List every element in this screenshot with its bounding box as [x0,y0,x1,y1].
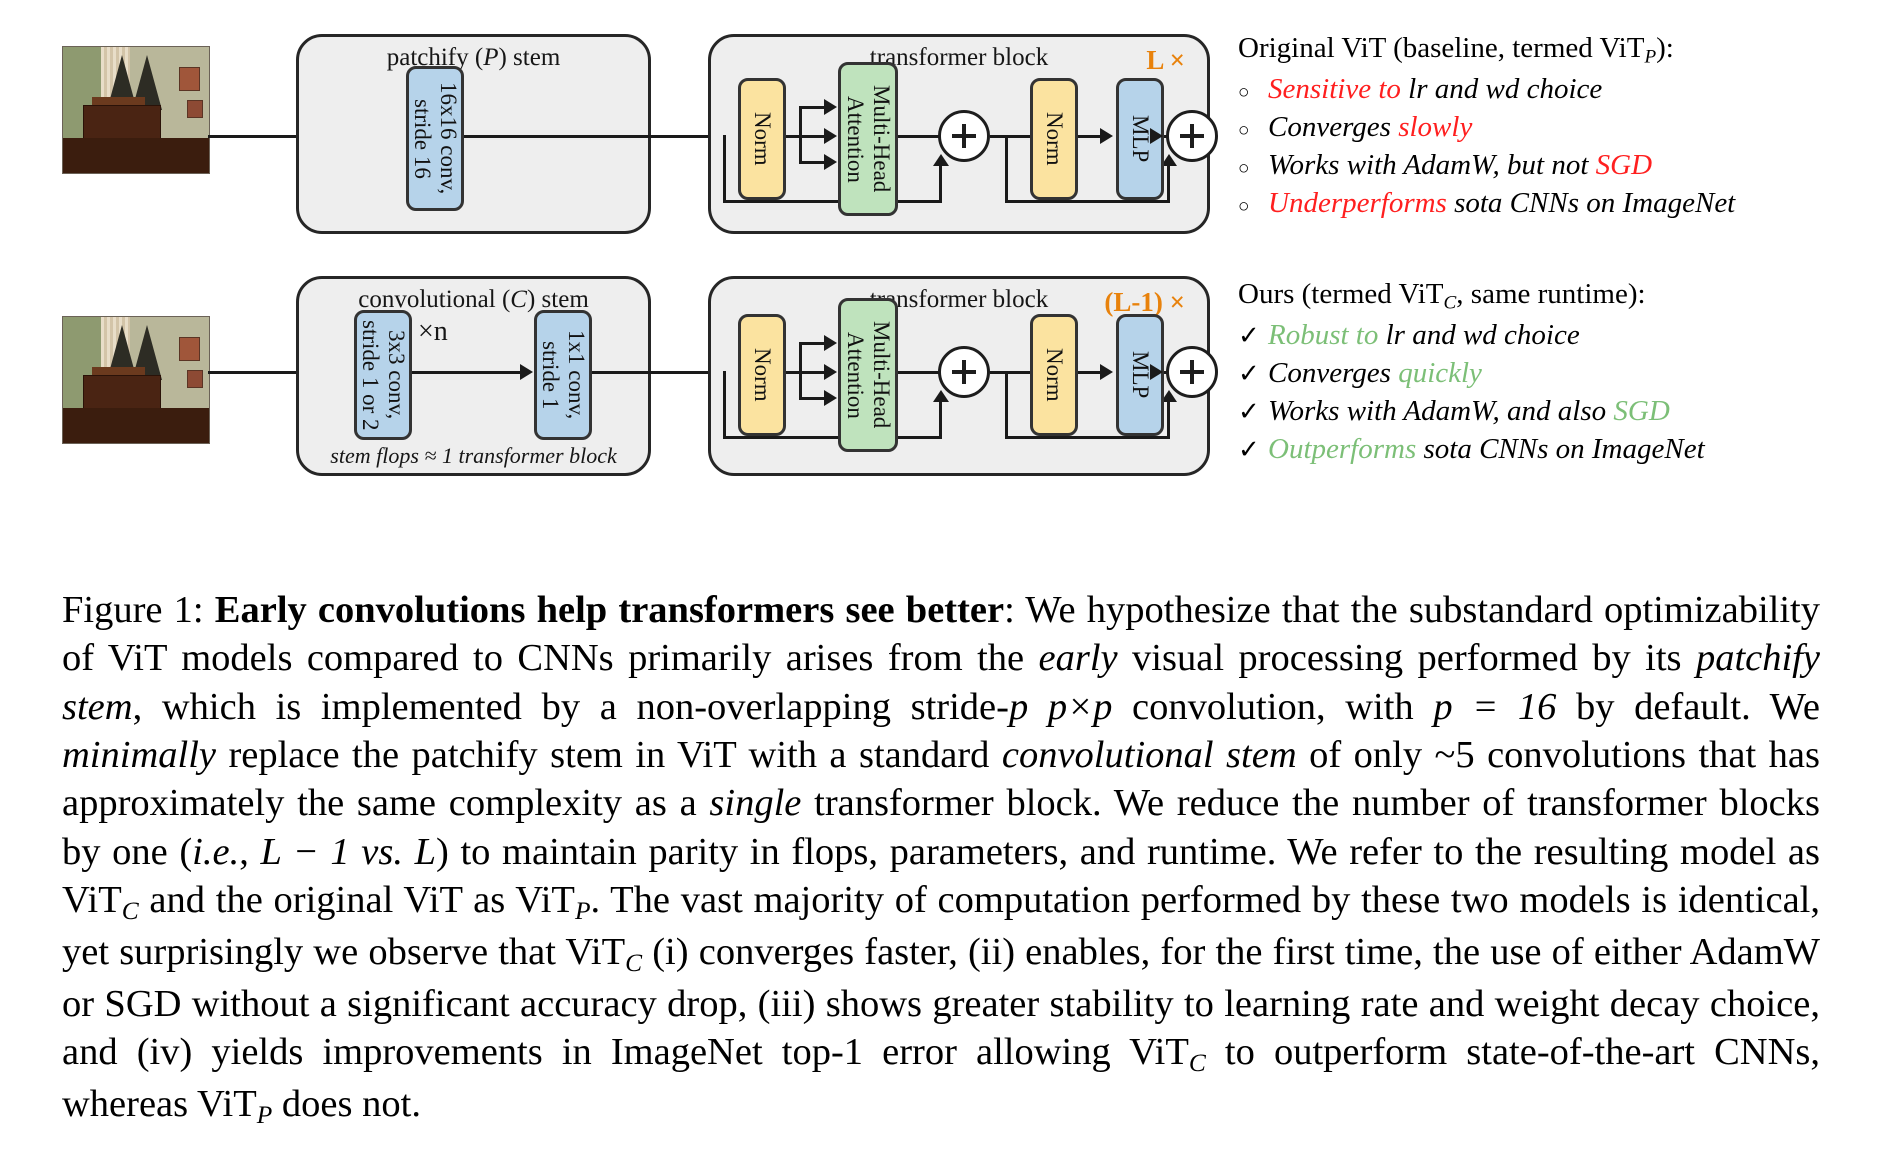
input-image-thumbnail [62,46,210,174]
skip1-down [723,135,726,203]
conv-1x1-label: 1x1 conv,stride 1 [537,330,589,419]
residual-add-2 [1166,110,1218,162]
ours-vit-heading: Ours (termed ViTC, same runtime): [1238,278,1878,315]
arrow-q-into-attention [824,335,837,351]
architecture-diagram: patchify (P) stem 16x16 conv,stride 16 t… [0,0,1882,570]
skip2-down [1005,135,1008,203]
caption-i4: convolutional stem [1002,734,1297,776]
convolutional-stem-title: convolutional (C) stem [299,286,648,314]
bullet-text: sota CNNs on ImageNet [1447,187,1735,219]
wire-stem-to-transformer [592,371,726,374]
mlp-label: MLP [1127,115,1153,162]
figure-1: patchify (P) stem 16x16 conv,stride 16 t… [0,0,1882,1161]
caption-math-L1: L − 1 [260,831,349,873]
arrow-into-mlp [1100,128,1113,144]
stem-flops-note: stem flops ≈ 1 transformer block [299,443,648,469]
list-item: ✓ Outperforms sota CNNs on ImageNet [1238,433,1878,467]
original-vit-summary-list: Original ViT (baseline, termed ViTP): ○ … [1238,32,1878,220]
bullet-marker-check-icon: ✓ [1238,435,1268,465]
qkv-fan-vertical [799,106,802,164]
skip2-horizontal [1005,200,1169,203]
input-image-thumbnail [62,316,210,444]
bullet-highlight: SGD [1596,149,1652,181]
patchify-stem-title: patchify (P) stem [299,44,648,72]
caption-s11: and the original ViT as ViT [139,879,575,921]
wire-attention-to-plus1 [898,135,940,138]
caption-sub-c3: C [1189,1049,1206,1077]
bullet-marker-check-icon: ✓ [1238,359,1268,389]
xn-repeat-label: ×n [418,316,448,348]
skip1-horizontal [723,436,941,439]
bullet-text: sota CNNs on ImageNet [1416,433,1704,465]
residual-add-1 [938,346,990,398]
bullet-text: Works with AdamW, and also [1268,395,1613,427]
arrow-into-plus2-h [1150,364,1163,380]
caption-sub-c2: C [625,949,642,977]
transformer-block-title: transformer block [711,44,1207,72]
caption-i7: vs. [350,831,415,873]
residual-add-2 [1166,346,1218,398]
residual-add-1 [938,110,990,162]
list-item: ✓ Works with AdamW, and also SGD [1238,395,1878,429]
convolutional-stem-panel: convolutional (C) stem stem flops ≈ 1 tr… [296,276,651,476]
bullet-marker-circle-icon: ○ [1238,158,1268,180]
bullet-text: lr and wd choice [1401,73,1602,105]
bullet-highlight: Sensitive to [1268,73,1401,105]
wire-attention-to-plus1 [898,371,940,374]
multi-head-attention-label: Multi-HeadAttention [842,321,894,428]
norm-1-block: Norm [738,314,786,436]
skip1-down [723,371,726,439]
caption-s3: , which is implemented by a non-overlapp… [133,686,1009,728]
bullet-highlight: Outperforms [1268,433,1416,465]
list-item: ○ Works with AdamW, but not SGD [1238,149,1878,183]
caption-i1: early [1039,637,1118,679]
skip2-up [1167,163,1170,203]
bullet-marker-check-icon: ✓ [1238,321,1268,351]
conv-16x16-label: 16x16 conv,stride 16 [409,82,461,194]
conv-3x3-label: 3x3 conv,stride 1 or 2 [357,320,409,431]
list-item: ✓ Robust to lr and wd choice [1238,319,1878,353]
caption-s9: , [239,831,260,873]
qkv-fan-vertical [799,342,802,400]
caption-s5: by default. We [1556,686,1820,728]
bullet-text: Works with AdamW, but not [1268,149,1596,181]
bullet-highlight: Robust to [1268,319,1378,351]
bullet-highlight: Underperforms [1268,187,1447,219]
bullet-marker-circle-icon: ○ [1238,196,1268,218]
repeat-count-badge: L × [1146,45,1185,76]
list-item: ○ Converges slowly [1238,111,1878,145]
skip2-up [1167,399,1170,439]
bullet-marker-check-icon: ✓ [1238,397,1268,427]
list-item: ✓ Converges quickly [1238,357,1878,391]
multi-head-attention-block: Multi-HeadAttention [838,298,898,452]
bullet-text: Converges [1268,111,1398,143]
caption-sub-c1: C [122,897,139,925]
arrow-k-into-attention [824,364,837,380]
norm-1-label: Norm [749,112,775,166]
caption-math-p16: p = 16 [1433,686,1556,728]
caption-math-p: p p×p [1009,686,1112,728]
conv-3x3-block: 3x3 conv,stride 1 or 2 [354,310,412,440]
norm-1-label: Norm [749,348,775,402]
bullet-text: Converges [1268,357,1398,389]
caption-s15: does not. [272,1083,421,1125]
norm-2-label: Norm [1041,348,1067,402]
conv-1x1-block: 1x1 conv,stride 1 [534,310,592,440]
bullet-text: lr and wd choice [1378,319,1579,351]
figure-label: Figure 1: [62,589,204,631]
caption-sub-p2: P [257,1101,273,1129]
figure-title-bold: Early convolutions help transformers see… [215,589,1004,631]
caption-colon: : [1004,589,1025,631]
arrow-k-into-attention [824,128,837,144]
wire-plus1-to-norm2 [990,135,1032,138]
wire-conv3x3-to-conv1x1 [412,371,524,374]
norm-2-block: Norm [1030,78,1078,200]
bullet-marker-circle-icon: ○ [1238,82,1268,104]
mlp-label: MLP [1127,351,1153,398]
bullet-marker-circle-icon: ○ [1238,120,1268,142]
bullet-highlight: SGD [1613,395,1669,427]
skip2-down [1005,371,1008,439]
multi-head-attention-block: Multi-HeadAttention [838,62,898,216]
arrow-v-into-attention [824,390,837,406]
arrow-into-plus2-h [1150,128,1163,144]
qkv-mid-wire [786,135,828,138]
caption-s6: replace the patchify stem in ViT with a … [216,734,1002,776]
norm-1-block: Norm [738,78,786,200]
caption-sub-p1: P [575,897,591,925]
arrow-into-mlp [1100,364,1113,380]
wire-plus1-to-norm2 [990,371,1032,374]
skip2-horizontal [1005,436,1169,439]
wire-stem-to-transformer [464,135,726,138]
conv-16x16-block: 16x16 conv,stride 16 [406,66,464,211]
arrow-v-into-attention [824,154,837,170]
caption-s4: convolution, with [1112,686,1433,728]
multi-head-attention-label: Multi-HeadAttention [842,85,894,192]
caption-s2: visual processing performed by its [1118,637,1696,679]
ours-vit-summary-list: Ours (termed ViTC, same runtime): ✓ Robu… [1238,278,1878,466]
original-vit-heading: Original ViT (baseline, termed ViTP): [1238,32,1878,69]
skip1-horizontal [723,200,941,203]
qkv-mid-wire [786,371,828,374]
norm-2-label: Norm [1041,112,1067,166]
arrow-q-into-attention [824,99,837,115]
caption-math-L: L [415,831,436,873]
list-item: ○ Underperforms sota CNNs on ImageNet [1238,187,1878,221]
skip1-up [939,163,942,203]
skip1-up [939,399,942,439]
caption-i3: minimally [62,734,216,776]
patchify-stem-panel: patchify (P) stem [296,34,651,234]
bullet-highlight: slowly [1398,111,1472,143]
figure-caption: Figure 1: Early convolutions help transf… [62,586,1820,1132]
bullet-highlight: quickly [1398,357,1482,389]
list-item: ○ Sensitive to lr and wd choice [1238,73,1878,107]
arrow-into-conv1x1 [520,364,533,380]
caption-i5: single [709,782,801,824]
norm-2-block: Norm [1030,314,1078,436]
caption-i6: i.e. [192,831,239,873]
